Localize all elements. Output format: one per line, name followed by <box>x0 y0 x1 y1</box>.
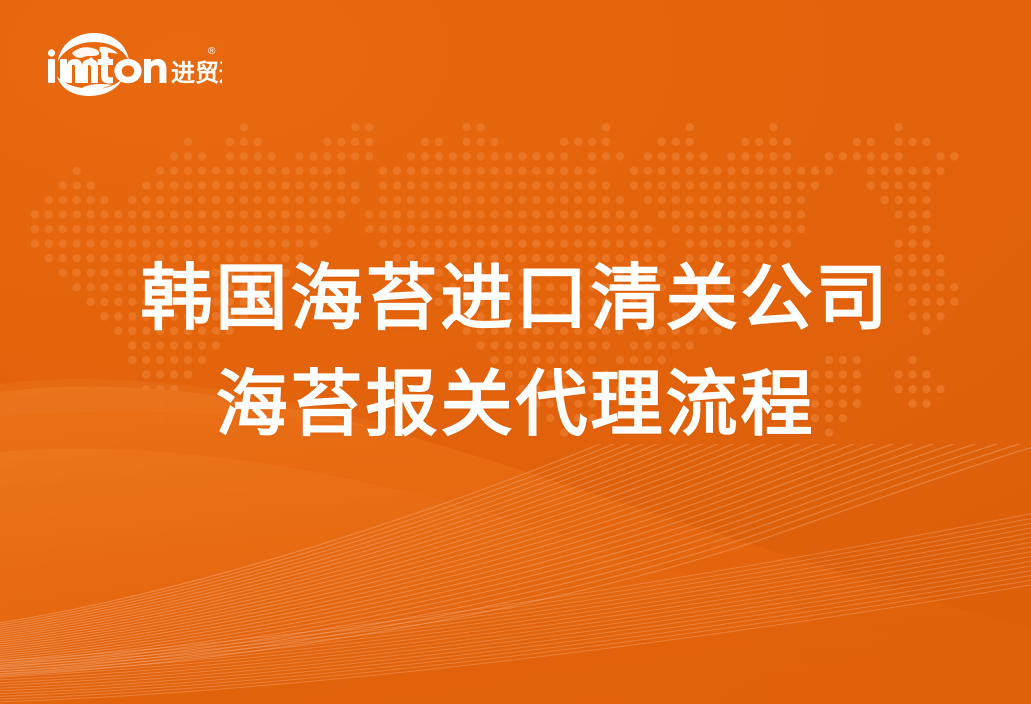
logo-trademark-mark: ® <box>208 46 216 57</box>
brand-logo[interactable]: 进贸通 ® <box>42 28 222 100</box>
globe-arc-top-icon <box>58 33 129 61</box>
title-line-1: 韩国海苔进口清关公司 <box>0 246 1031 352</box>
page-title: 韩国海苔进口清关公司 海苔报关代理流程 <box>0 246 1031 458</box>
logo-wordmark-shapes <box>48 49 166 83</box>
title-line-2: 海苔报关代理流程 <box>0 352 1031 458</box>
logo-chinese-text: 进贸通 <box>171 60 222 87</box>
poster-banner: 进贸通 ® 韩国海苔进口清关公司 海苔报关代理流程 <box>0 0 1031 704</box>
